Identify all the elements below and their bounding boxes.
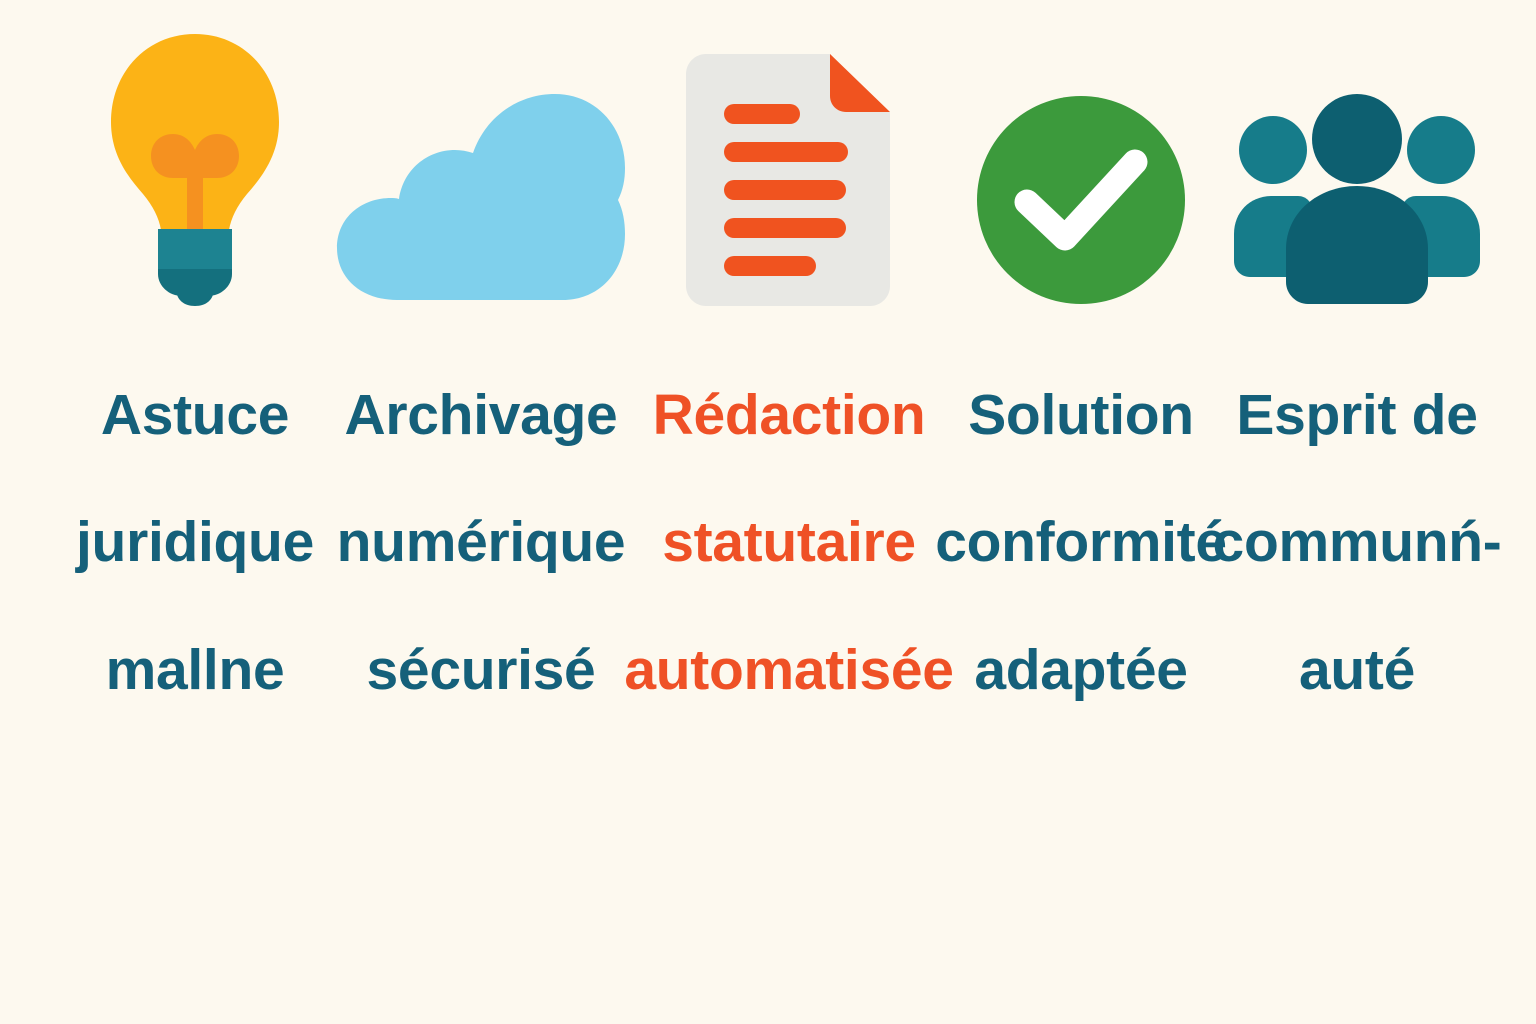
feature-redaction-statutaire[interactable]: Rédaction statutaire automatisée <box>631 0 947 767</box>
feature-esprit-communaute[interactable]: Esprit de communń- auté <box>1215 0 1499 767</box>
label-line-3: automatisée <box>624 639 953 703</box>
feature-label: Solution conformité adaptée <box>935 320 1227 767</box>
label-line-2: juridique <box>76 511 314 575</box>
label-line-2: numérique <box>337 511 626 575</box>
label-line-1: Esprit de <box>1213 384 1502 448</box>
label-line-3: auté <box>1213 639 1502 703</box>
people-group-icon <box>1215 0 1499 318</box>
doc-line-1 <box>724 104 800 124</box>
label-line-2: communń- <box>1213 511 1502 575</box>
feature-graphic: Astuce juridique mallne Archivage numéri… <box>0 0 1536 1024</box>
lightbulb-icon <box>59 0 331 318</box>
feature-label: Esprit de communń- auté <box>1213 320 1502 767</box>
feature-row: Astuce juridique mallne Archivage numéri… <box>0 0 1536 1024</box>
label-line-3: sécurisé <box>337 639 626 703</box>
label-line-2: statutaire <box>624 511 953 575</box>
label-line-3: adaptée <box>935 639 1227 703</box>
label-line-3: mallne <box>76 639 314 703</box>
feature-label: Astuce juridique mallne <box>76 320 314 767</box>
doc-line-2 <box>724 142 848 162</box>
cloud-icon <box>331 0 631 318</box>
feature-label: Archivage numérique sécurisé <box>337 320 626 767</box>
label-line-2: conformité <box>935 511 1227 575</box>
label-line-1: Rédaction <box>624 384 953 448</box>
doc-line-3 <box>724 180 846 200</box>
label-line-1: Solution <box>935 384 1227 448</box>
feature-solution-conformite[interactable]: Solution conformité adaptée <box>947 0 1215 767</box>
check-circle-icon <box>947 0 1215 318</box>
document-icon <box>631 0 947 318</box>
label-line-1: Astuce <box>76 384 314 448</box>
doc-line-4 <box>724 218 846 238</box>
feature-astuce-juridique[interactable]: Astuce juridique mallne <box>59 0 331 767</box>
label-line-1: Archivage <box>337 384 626 448</box>
feature-archivage-numerique[interactable]: Archivage numérique sécurisé <box>331 0 631 767</box>
feature-label: Rédaction statutaire automatisée <box>624 320 953 767</box>
doc-line-5 <box>724 256 816 276</box>
